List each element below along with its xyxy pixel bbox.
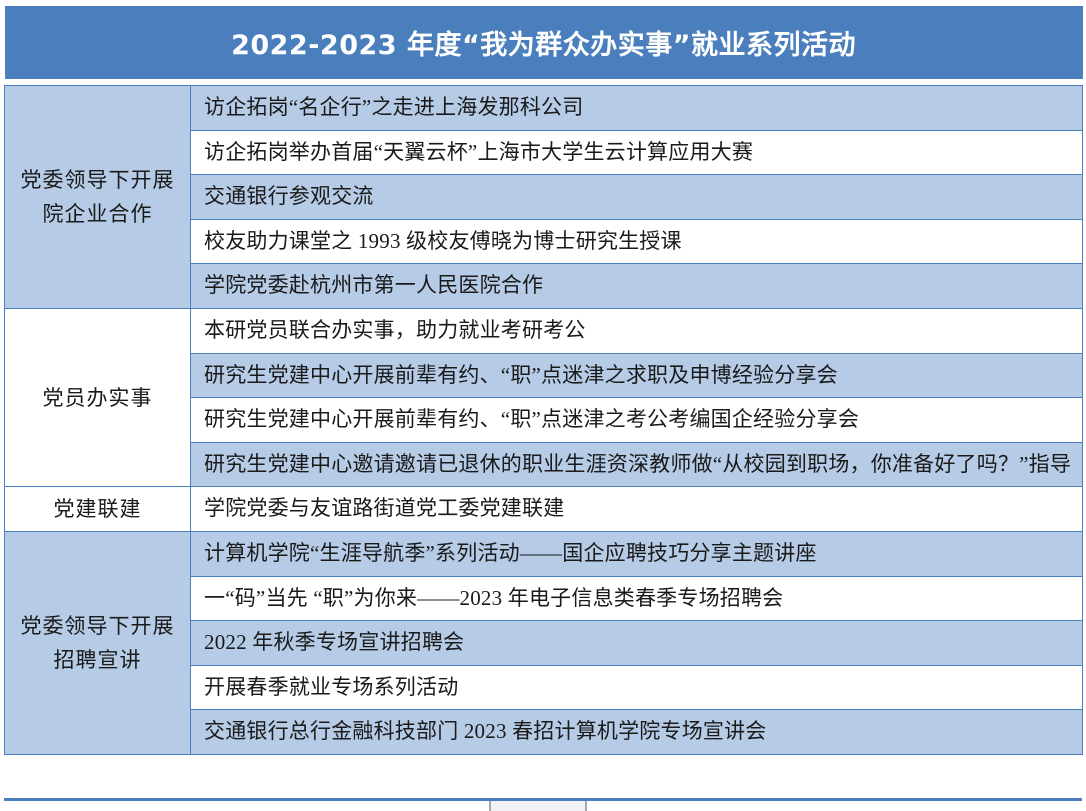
activity-item-cell: 计算机学院“生涯导航季”系列活动——国企应聘技巧分享主题讲座 — [191, 531, 1083, 576]
activity-item-cell: 校友助力课堂之 1993 级校友傅晓为博士研究生授课 — [191, 219, 1083, 264]
activity-item-cell: 研究生党建中心邀请邀请已退休的职业生涯资深教师做“从校园到职场，你准备好了吗？”… — [191, 442, 1083, 487]
activity-item-cell: 交通银行总行金融科技部门 2023 春招计算机学院专场宣讲会 — [191, 710, 1083, 755]
category-cell: 党建联建 — [5, 487, 191, 532]
activity-item-cell: 一“码”当先 “职”为你来——2023 年电子信息类春季专场招聘会 — [191, 576, 1083, 621]
table-row: 党员办实事本研党员联合办实事，助力就业考研考公 — [5, 308, 1083, 353]
activity-item-cell: 2022 年秋季专场宣讲招聘会 — [191, 621, 1083, 666]
activity-table-body: 2022-2023 年度“我为群众办实事”就业系列活动 党委领导下开展院企业合作… — [5, 6, 1083, 754]
activity-item-cell: 访企拓岗举办首届“天翼云杯”上海市大学生云计算应用大赛 — [191, 130, 1083, 175]
activity-item-cell: 开展春季就业专场系列活动 — [191, 665, 1083, 710]
activity-item-cell: 本研党员联合办实事，助力就业考研考公 — [191, 308, 1083, 353]
activity-item-cell: 交通银行参观交流 — [191, 175, 1083, 220]
activity-table: 2022-2023 年度“我为群众办实事”就业系列活动 党委领导下开展院企业合作… — [4, 6, 1083, 755]
activity-item-cell: 研究生党建中心开展前辈有约、“职”点迷津之考公考编国企经验分享会 — [191, 398, 1083, 443]
scrollbar-artifact[interactable] — [489, 801, 587, 811]
activity-item-cell: 学院党委赴杭州市第一人民医院合作 — [191, 264, 1083, 309]
table-row: 党委领导下开展招聘宣讲计算机学院“生涯导航季”系列活动——国企应聘技巧分享主题讲… — [5, 531, 1083, 576]
table-row: 党委领导下开展院企业合作访企拓岗“名企行”之走进上海发那科公司 — [5, 86, 1083, 131]
category-cell: 党委领导下开展院企业合作 — [5, 86, 191, 309]
table-title: 2022-2023 年度“我为群众办实事”就业系列活动 — [5, 6, 1083, 79]
table-row: 党建联建学院党委与友谊路街道党工委党建联建 — [5, 487, 1083, 532]
document-page: 2022-2023 年度“我为群众办实事”就业系列活动 党委领导下开展院企业合作… — [0, 0, 1086, 811]
category-cell: 党委领导下开展招聘宣讲 — [5, 531, 191, 754]
title-row: 2022-2023 年度“我为群众办实事”就业系列活动 — [5, 6, 1083, 79]
activity-table-container: 2022-2023 年度“我为群众办实事”就业系列活动 党委领导下开展院企业合作… — [4, 6, 1082, 755]
category-cell: 党员办实事 — [5, 308, 191, 486]
activity-item-cell: 研究生党建中心开展前辈有约、“职”点迷津之求职及申博经验分享会 — [191, 353, 1083, 398]
activity-item-cell: 访企拓岗“名企行”之走进上海发那科公司 — [191, 86, 1083, 131]
activity-item-cell: 学院党委与友谊路街道党工委党建联建 — [191, 487, 1083, 532]
